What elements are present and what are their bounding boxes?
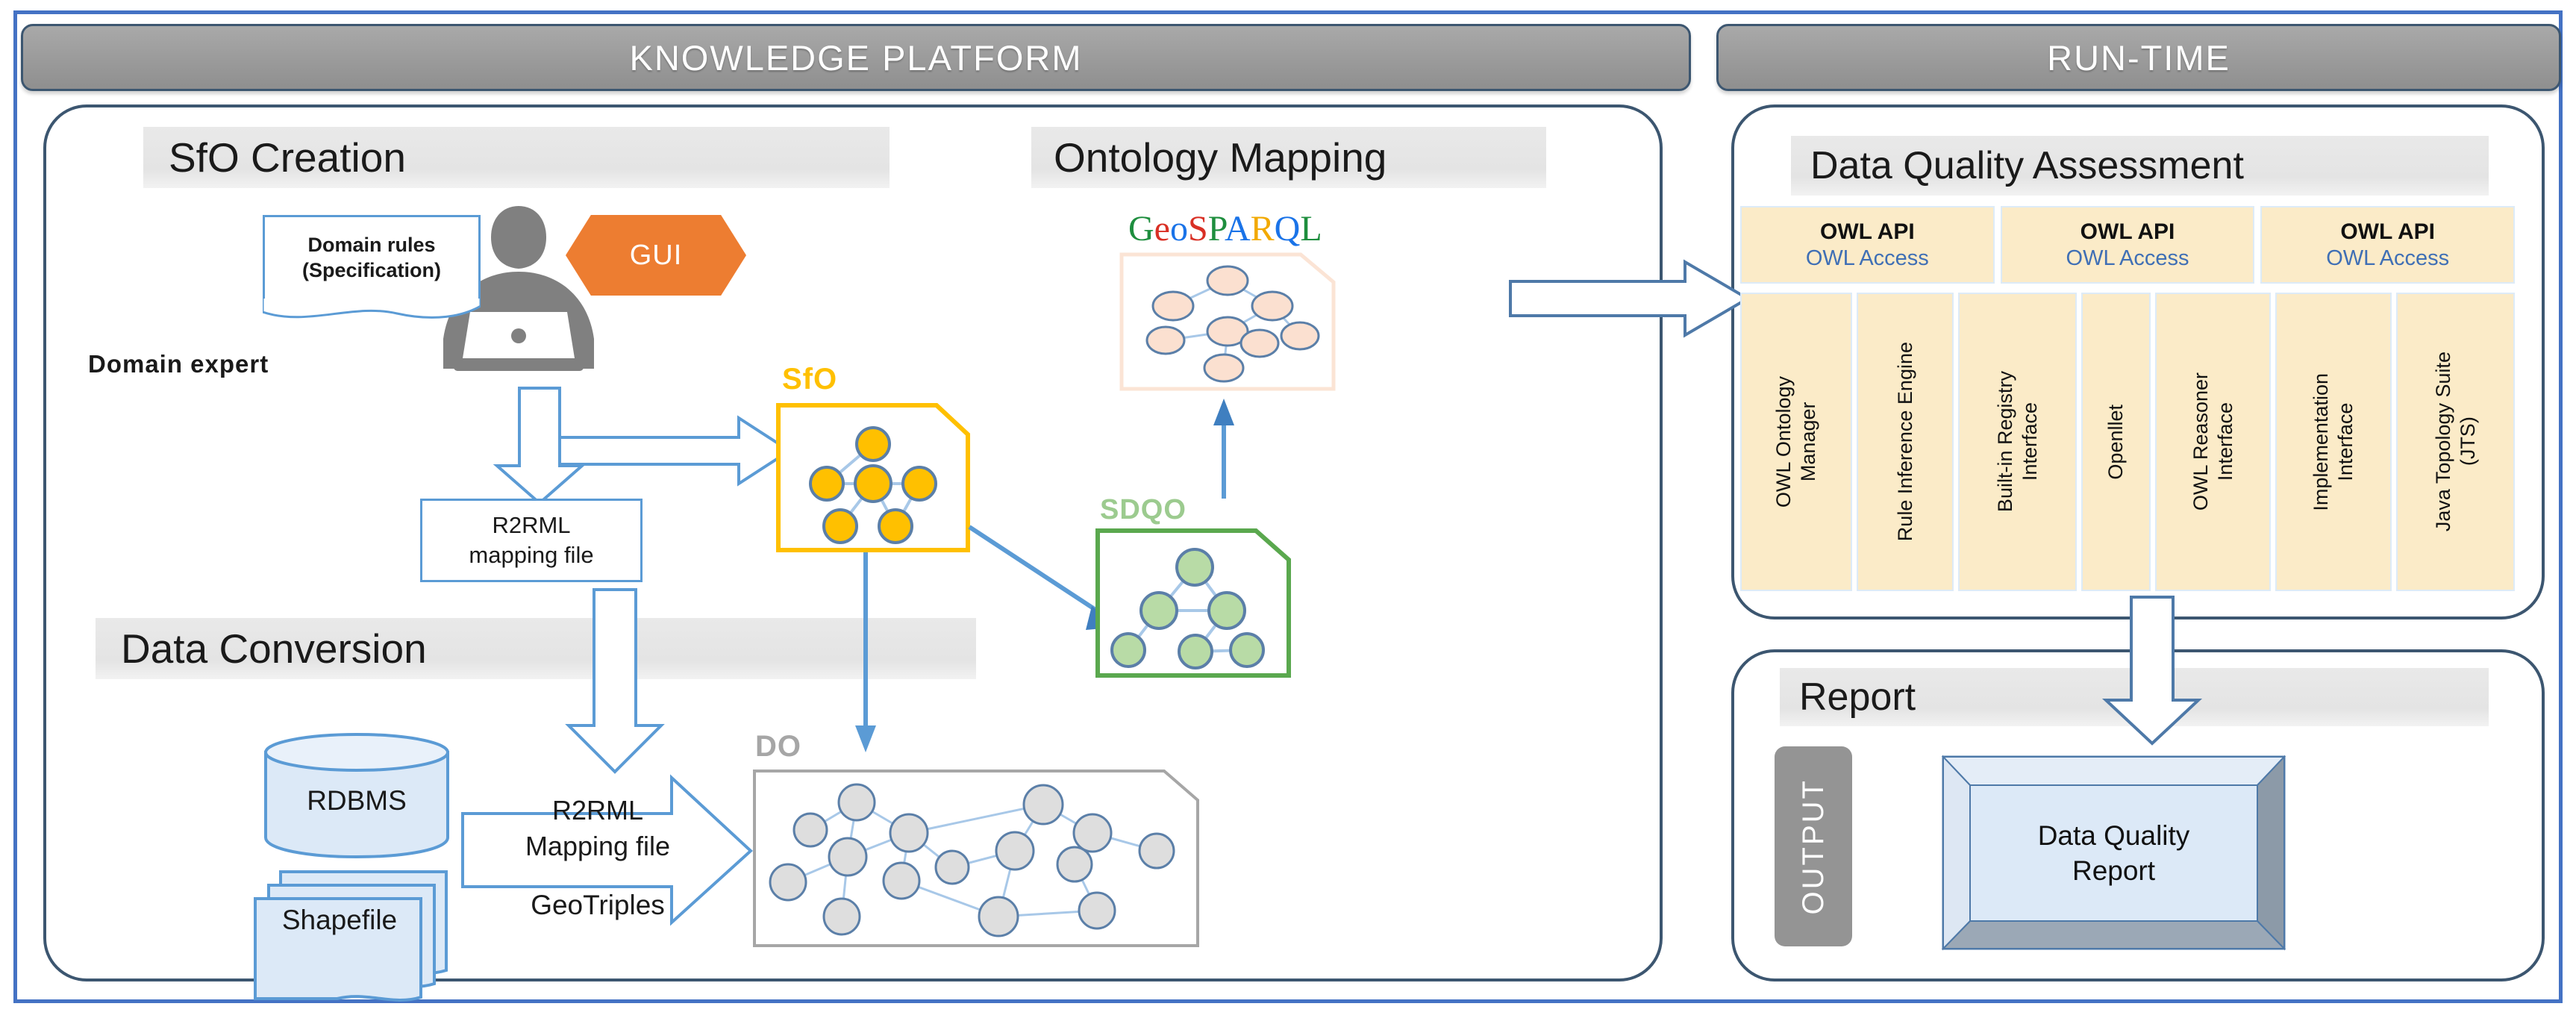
domain-expert-label: Domain expert xyxy=(88,351,269,378)
owl-api-cell-0: OWL API OWL Access xyxy=(1740,206,1995,284)
geosparql-ontology-document xyxy=(1119,252,1336,391)
section-header-data-conversion-label: Data Conversion xyxy=(121,625,427,672)
dqa-component-label-1: Rule Inference Engine xyxy=(1893,342,1918,541)
dqa-component-row: OWL Ontology Manager Rule Inference Engi… xyxy=(1740,293,2515,591)
domain-rules-note-tail xyxy=(263,297,481,325)
rdbms-label: RDBMS xyxy=(260,785,454,816)
arrow-dqa-to-report xyxy=(2089,597,2224,746)
dqa-component-3: Openllet xyxy=(2081,293,2151,591)
section-header-data-quality-assessment-label: Data Quality Assessment xyxy=(1810,143,2244,188)
sfo-label: SfO xyxy=(782,363,837,396)
dqa-component-label-0: OWL Ontology Manager xyxy=(1772,376,1821,508)
geosparql-letter-0: G xyxy=(1128,209,1154,249)
banner-knowledge-platform: KNOWLEDGE PLATFORM xyxy=(21,24,1691,91)
dqa-component-label-5: Implementation Interface xyxy=(2309,373,2358,511)
banner-run-time-label: RUN-TIME xyxy=(2047,37,2230,78)
output-label: OUTPUT xyxy=(1797,778,1831,914)
r2rml-mapping-file-label: R2RML Mapping file xyxy=(475,793,721,864)
arrow-sfo-to-do xyxy=(851,552,881,754)
section-header-report-label: Report xyxy=(1799,675,1916,720)
arrow-r2rml-to-conversion xyxy=(552,590,687,776)
dqa-component-1: Rule Inference Engine xyxy=(1857,293,1954,591)
dqa-component-0: OWL Ontology Manager xyxy=(1740,293,1852,591)
banner-run-time: RUN-TIME xyxy=(1716,24,2561,91)
geosparql-letter-3: S xyxy=(1188,209,1208,249)
dqa-component-4: OWL Reasoner Interface xyxy=(2155,293,2272,591)
owl-api-title-1: OWL API xyxy=(2081,219,2175,245)
owl-api-title-2: OWL API xyxy=(2340,219,2435,245)
geosparql-letter-6: R xyxy=(1251,209,1275,249)
dqa-component-label-2: Built-in Registry Interface xyxy=(1993,371,2042,512)
geosparql-letter-2: o xyxy=(1170,209,1188,249)
section-header-data-conversion: Data Conversion xyxy=(96,618,976,679)
sfo-ontology-document xyxy=(776,403,970,552)
geosparql-letter-8: L xyxy=(1300,209,1322,249)
owl-api-subtitle-0: OWL Access xyxy=(1806,246,1929,271)
dqa-component-2: Built-in Registry Interface xyxy=(1958,293,2077,591)
output-tab: OUTPUT xyxy=(1775,746,1852,946)
do-label: DO xyxy=(755,730,801,764)
arrow-platform-to-dqa xyxy=(1507,257,1754,340)
dqa-component-6: Java Topology Suite (JTS) xyxy=(2396,293,2515,591)
dqa-component-label-3: Openllet xyxy=(2104,405,2128,480)
do-graph-document xyxy=(752,769,1200,948)
domain-rules-line2: (Specification) xyxy=(302,258,441,284)
dqa-component-5: Implementation Interface xyxy=(2275,293,2392,591)
geosparql-letter-5: A xyxy=(1225,209,1251,249)
shapefile-label: Shapefile xyxy=(246,905,433,935)
r2rml-mapping-file-line2: Mapping file xyxy=(475,828,721,864)
geosparql-letter-4: P xyxy=(1208,209,1225,249)
r2rml-mapping-file-line1: R2RML xyxy=(475,793,721,828)
banner-knowledge-platform-label: KNOWLEDGE PLATFORM xyxy=(629,37,1082,78)
owl-api-title-0: OWL API xyxy=(1820,219,1915,245)
owl-api-subtitle-2: OWL Access xyxy=(2326,246,2449,271)
geosparql-letter-7: Q xyxy=(1275,209,1301,249)
geosparql-wordmark: GeoSPARQL xyxy=(1128,209,1322,249)
owl-api-cell-2: OWL API OWL Access xyxy=(2260,206,2515,284)
dqa-component-label-6: Java Topology Suite (JTS) xyxy=(2431,352,2480,531)
geotriples-label: GeoTriples xyxy=(475,890,721,920)
report-box-line2: Report xyxy=(2038,853,2190,888)
section-header-sfo-creation-label: SfO Creation xyxy=(169,134,406,181)
report-box-line1: Data Quality xyxy=(2038,818,2190,853)
section-header-data-quality-assessment: Data Quality Assessment xyxy=(1791,136,2489,196)
r2rml-mapping-file-box: R2RML mapping file xyxy=(420,499,643,582)
geosparql-letter-1: e xyxy=(1154,209,1170,249)
arrow-sdqo-to-geosparql xyxy=(1209,396,1239,502)
section-header-sfo-creation: SfO Creation xyxy=(143,127,890,188)
sdqo-ontology-document xyxy=(1095,528,1291,678)
section-header-ontology-mapping: Ontology Mapping xyxy=(1031,127,1546,188)
gui-label: GUI xyxy=(630,240,683,272)
sdqo-label: SDQO xyxy=(1100,494,1187,526)
owl-api-cell-1: OWL API OWL Access xyxy=(2001,206,2255,284)
r2rml-mapping-file-line1: R2RML xyxy=(492,511,570,540)
section-header-ontology-mapping-label: Ontology Mapping xyxy=(1054,134,1387,181)
domain-rules-note: Domain rules (Specification) xyxy=(263,215,481,299)
r2rml-mapping-file-line2: mapping file xyxy=(469,540,593,570)
owl-api-header-row: OWL API OWL Access OWL API OWL Access OW… xyxy=(1740,206,2515,284)
data-quality-report-cube: Data Quality Report xyxy=(1940,754,2287,952)
diagram-canvas: KNOWLEDGE PLATFORM RUN-TIME SfO Creation… xyxy=(0,0,2576,1030)
dqa-component-label-4: OWL Reasoner Interface xyxy=(2189,372,2238,511)
domain-rules-line1: Domain rules xyxy=(307,233,435,258)
arrow-expert-to-r2rml xyxy=(478,388,612,508)
shapefile-stack-icon xyxy=(246,866,463,1008)
owl-api-subtitle-1: OWL Access xyxy=(2066,246,2189,271)
